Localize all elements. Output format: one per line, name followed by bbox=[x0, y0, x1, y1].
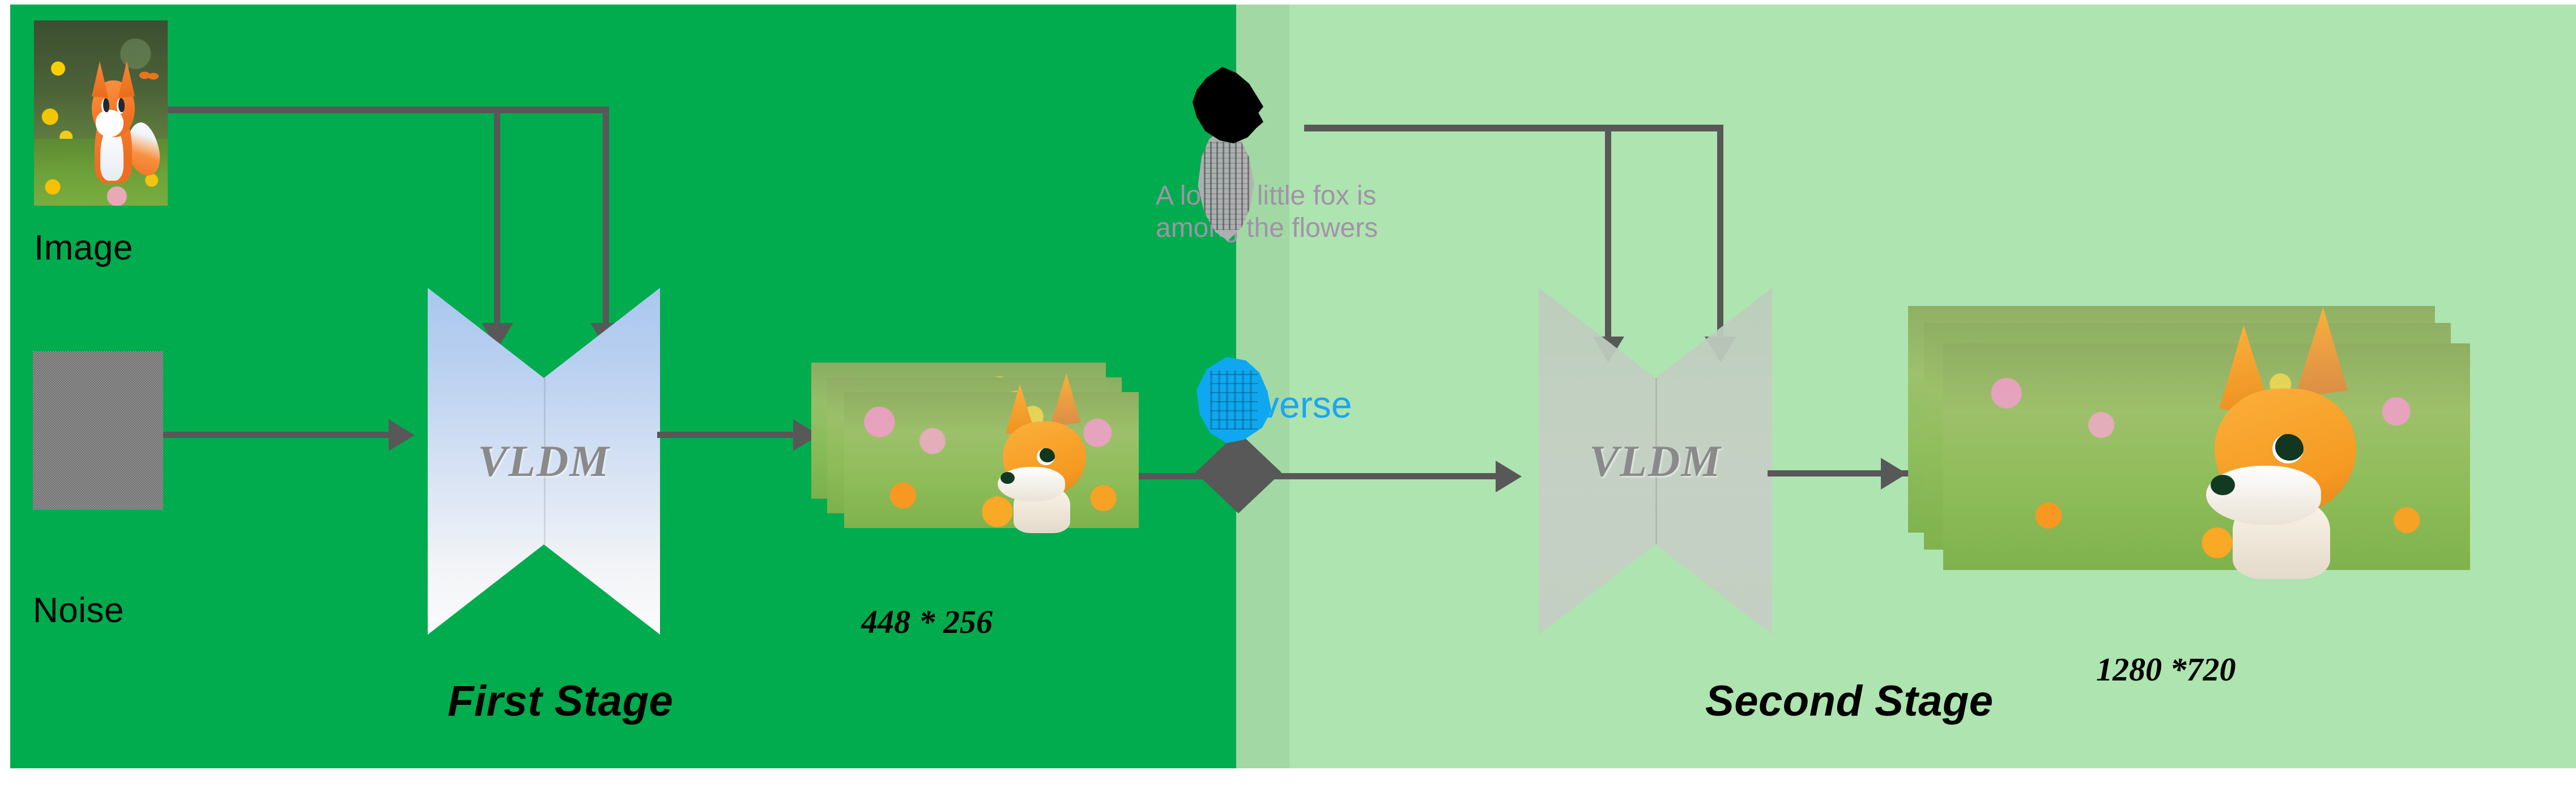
noise-arrowhead bbox=[389, 419, 415, 451]
output-fox bbox=[2175, 343, 2396, 570]
bridge-arrowhead bbox=[1496, 461, 1522, 492]
output-frame-front bbox=[1943, 343, 2470, 570]
fox-ear-right bbox=[118, 61, 135, 98]
input-image-label: Image bbox=[34, 228, 133, 268]
fox-eye-left bbox=[101, 98, 109, 114]
fox-muzzle bbox=[96, 110, 124, 137]
second-stage-resolution-label: 1280 *720 bbox=[2096, 650, 2236, 688]
second-stage-output-frames bbox=[1908, 306, 2509, 544]
first-stage-label: First Stage bbox=[448, 677, 673, 726]
output-fox-eye bbox=[1037, 448, 1055, 466]
second-stage-vldm-label: VLDM bbox=[1589, 436, 1721, 487]
diagram-canvas: Image Noise VLDM 4 bbox=[0, 0, 2576, 787]
prompt-to-model-horizontal-line bbox=[1304, 125, 1723, 131]
input-image-thumbnail bbox=[34, 20, 168, 206]
output-frame-front bbox=[844, 392, 1139, 528]
first-stage-vldm-block: VLDM bbox=[428, 288, 660, 635]
bridge-line-right bbox=[1263, 473, 1501, 479]
output-fox-nose bbox=[2211, 475, 2235, 495]
first-stage-vldm-label: VLDM bbox=[478, 436, 610, 487]
noise-thumbnail bbox=[33, 351, 163, 510]
noise-label: Noise bbox=[33, 590, 124, 631]
butterfly-icon bbox=[138, 69, 160, 86]
model-to-output-arrowhead-second bbox=[1881, 458, 1907, 490]
first-stage-output-frames bbox=[811, 363, 1142, 521]
noise-to-model-line bbox=[163, 432, 390, 438]
output-fox bbox=[980, 395, 1109, 528]
second-stage-label: Second Stage bbox=[1705, 677, 1994, 726]
fox-eye-right bbox=[117, 98, 124, 114]
image-to-model-horizontal-line bbox=[168, 107, 606, 113]
second-stage-vldm-block: VLDM bbox=[1539, 288, 1772, 635]
first-stage-resolution-label: 448 * 256 bbox=[861, 603, 993, 641]
output-fox-eye bbox=[2272, 434, 2304, 463]
fox-ear-left bbox=[92, 61, 108, 98]
